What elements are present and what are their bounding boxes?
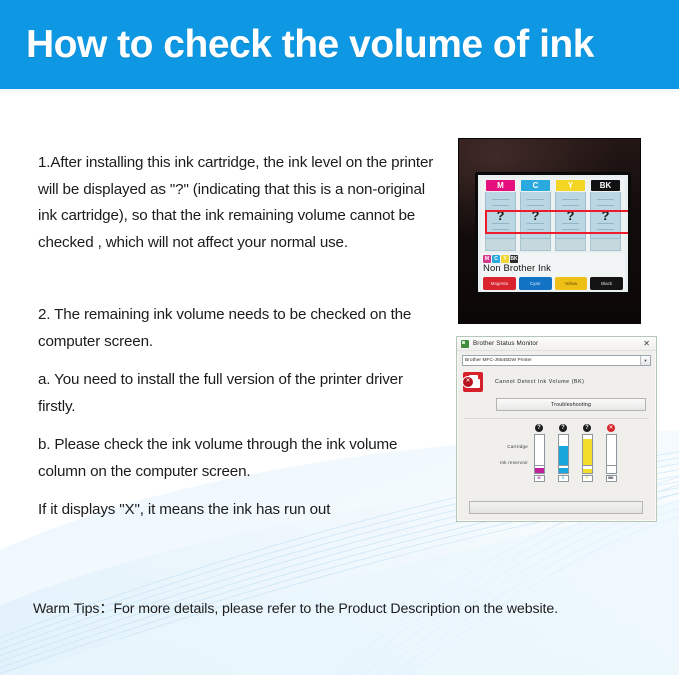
lcd-status-area: M C Y BK Non Brother Ink Magenta Cyan Ye…: [481, 253, 625, 290]
ink-foot-black: [590, 239, 621, 251]
warm-tips-note: Warm Tips：For more details, please refer…: [33, 600, 663, 619]
printer-lcd-screen: M ? C ?: [475, 172, 631, 295]
chevron-down-icon[interactable]: ▼: [640, 356, 650, 365]
gauge-columns: ? M ?: [534, 424, 616, 482]
instruction-paragraph-3b: b. Please check the ink volume through t…: [38, 432, 438, 485]
section-divider: [464, 418, 649, 419]
gauge-row-labels: Cartridge Ink reservoir: [472, 444, 528, 465]
ink-cap-label-cyan: C: [521, 180, 550, 191]
gauge-magenta[interactable]: ? M: [534, 424, 544, 482]
gauge-cyan[interactable]: ? C: [558, 424, 568, 482]
label-ink-reservoir: Ink reservoir: [472, 460, 528, 465]
close-icon[interactable]: ✕: [641, 340, 652, 348]
gauge-chip-black: BK: [606, 475, 617, 482]
ink-cap-label-magenta: M: [486, 180, 515, 191]
window-titlebar: Brother Status Monitor ✕: [457, 337, 656, 351]
printer-error-icon: ✕: [463, 372, 483, 392]
instruction-paragraph-4: If it displays "X", it means the ink has…: [38, 497, 438, 524]
mini-ink-badges: M C Y BK: [481, 253, 625, 263]
mini-badge-yellow-icon: Y: [501, 255, 509, 263]
gauge-chip-cyan: C: [558, 475, 569, 482]
instruction-paragraph-1: 1.After installing this ink cartridge, t…: [38, 150, 438, 256]
lcd-yellow-button[interactable]: Yellow: [555, 277, 588, 290]
gauge-reservoir-cyan: [558, 466, 569, 474]
window-footer-bar: [469, 501, 643, 514]
error-message-row: ✕ Cannot Detect Ink Volume (BK): [462, 372, 651, 392]
gauge-black[interactable]: ✕ BK: [606, 424, 616, 482]
paragraph-spacer: [38, 355, 438, 367]
ink-foot-magenta: [485, 239, 516, 251]
page-title: How to check the volume of ink: [0, 25, 594, 64]
status-error-icon-black: ✕: [607, 424, 615, 432]
status-question-icon-magenta: ?: [535, 424, 543, 432]
status-question-icon-cyan: ?: [559, 424, 567, 432]
gauge-tube-cyan: [558, 434, 569, 466]
instruction-paragraph-2: 2. The remaining ink volume needs to be …: [38, 302, 438, 355]
gauge-yellow[interactable]: ? Y: [582, 424, 592, 482]
lcd-magenta-button[interactable]: Magenta: [483, 277, 516, 290]
mini-badge-magenta-icon: M: [483, 255, 491, 263]
lcd-black-button[interactable]: Black: [590, 277, 623, 290]
ink-foot-yellow: [555, 239, 586, 251]
status-question-icon-yellow: ?: [583, 424, 591, 432]
gauge-chip-yellow: Y: [582, 475, 593, 482]
mini-badge-cyan-icon: C: [492, 255, 500, 263]
printer-select-dropdown[interactable]: Brother MFC-J6545DW Printer ▼: [462, 355, 651, 366]
instruction-paragraph-3a: a. You need to install the full version …: [38, 367, 438, 420]
page-root: How to check the volume of ink 1.After i…: [0, 0, 679, 675]
header-divider: [0, 89, 679, 92]
paragraph-spacer: [38, 485, 438, 497]
window-title: Brother Status Monitor: [473, 340, 641, 347]
lcd-button-row: Magenta Cyan Yellow Black: [481, 274, 625, 290]
gauge-reservoir-yellow: [582, 466, 593, 474]
lcd-inner: M ? C ?: [478, 175, 628, 292]
gauge-reservoir-magenta: [534, 466, 545, 474]
printer-photo: M ? C ?: [459, 139, 640, 323]
label-cartridge: Cartridge: [472, 444, 528, 449]
ink-cap-label-yellow: Y: [556, 180, 585, 191]
gauge-tube-black: [606, 434, 617, 466]
gauge-chip-magenta: M: [534, 475, 545, 482]
printer-select-value: Brother MFC-J6545DW Printer: [465, 358, 532, 363]
troubleshooting-button[interactable]: Troubleshooting: [496, 398, 646, 411]
paragraph-spacer: [38, 420, 438, 432]
highlight-rectangle-annotation: [485, 210, 630, 234]
lcd-cyan-button[interactable]: Cyan: [519, 277, 552, 290]
error-message-text: Cannot Detect Ink Volume (BK): [495, 379, 584, 385]
gauge-tube-yellow: [582, 434, 593, 466]
brother-app-icon: [461, 340, 469, 348]
window-body: Brother MFC-J6545DW Printer ▼ ✕ Cannot D…: [457, 351, 656, 484]
gauge-reservoir-black: [606, 466, 617, 474]
non-brother-ink-label: Non Brother Ink: [481, 263, 625, 274]
instructions-column: 1.After installing this ink cartridge, t…: [38, 150, 438, 524]
brother-status-monitor-window: Brother Status Monitor ✕ Brother MFC-J65…: [456, 336, 657, 522]
paragraph-spacer: [38, 256, 438, 302]
ink-foot-cyan: [520, 239, 551, 251]
gauge-tube-magenta: [534, 434, 545, 466]
page-header-banner: How to check the volume of ink: [0, 0, 679, 89]
ink-cap-label-black: BK: [591, 180, 620, 191]
ink-level-panel: M ? C ?: [481, 178, 625, 251]
mini-badge-black-icon: BK: [510, 255, 518, 263]
ink-gauge-area: Cartridge Ink reservoir ? M: [462, 424, 651, 484]
